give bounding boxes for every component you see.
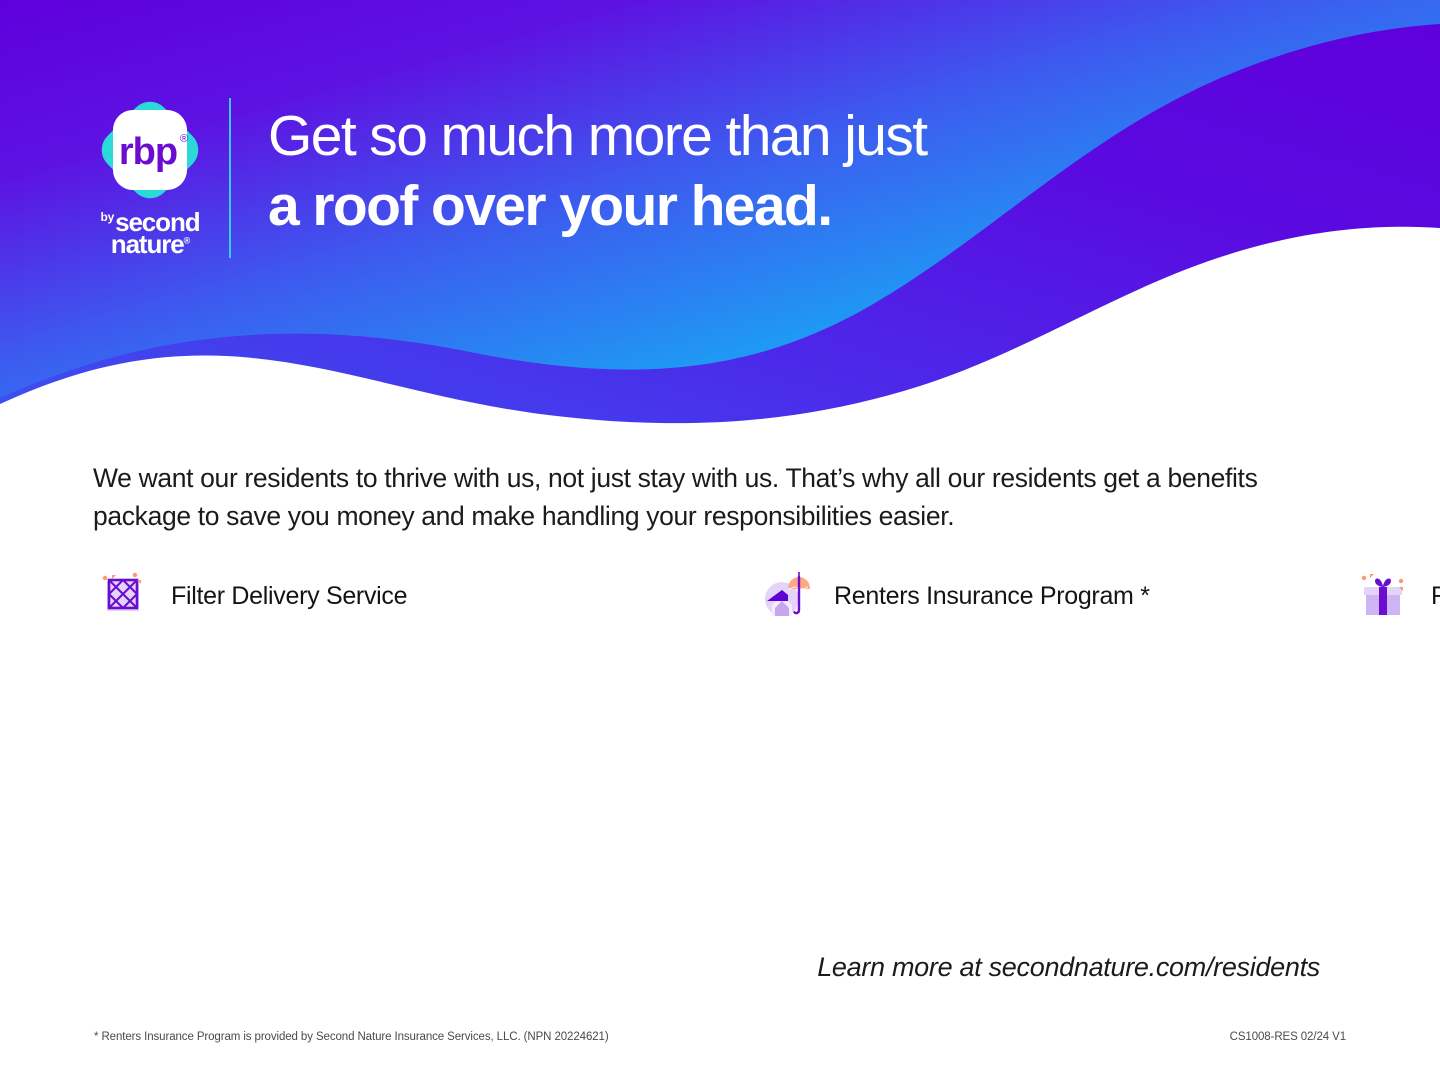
benefits-list: Filter Delivery Service Renters Insuranc… (93, 558, 1353, 634)
hero-vertical-divider (229, 98, 231, 258)
page-title: Get so much more than just a roof over y… (268, 108, 927, 235)
headline-line-1: Get so much more than just (268, 108, 927, 165)
umbrella-house-icon (756, 566, 816, 626)
footer-document-code: CS1008-RES 02/24 V1 (1230, 1031, 1346, 1043)
rbp-logo-mark: rbp ® (96, 96, 204, 204)
rbp-logo-lockup: rbp ® bysecond nature® (88, 96, 212, 257)
learn-more-text: Learn more at secondnature.com/residents (817, 952, 1320, 983)
svg-text:®: ® (180, 133, 188, 145)
benefit-item: Renters Insurance Program * (756, 558, 1353, 634)
headline-line-2: a roof over your head. (268, 178, 927, 235)
benefit-label: Filter Delivery Service (171, 582, 407, 611)
gift-box-icon (1353, 566, 1413, 626)
marketing-flyer: rbp ® bysecond nature® Get so much more … (0, 0, 1440, 1080)
benefit-label: Renters Insurance Program * (834, 582, 1150, 611)
air-filter-icon (93, 566, 153, 626)
intro-paragraph: We want our residents to thrive with us,… (93, 460, 1308, 535)
benefit-item: Resident Rewards Program (1353, 558, 1440, 634)
logo-registered-mark: ® (184, 235, 190, 245)
benefit-label: Resident Rewards Program (1431, 582, 1440, 611)
logo-byline-by: by (100, 212, 114, 224)
benefit-item: Filter Delivery Service (93, 558, 756, 634)
logo-byline: bysecond nature® (88, 210, 212, 257)
svg-text:rbp: rbp (119, 131, 177, 173)
rbp-badge-icon: rbp ® (96, 96, 204, 204)
footer-disclaimer: * Renters Insurance Program is provided … (94, 1031, 609, 1043)
hero-banner: rbp ® bysecond nature® Get so much more … (0, 0, 1440, 440)
